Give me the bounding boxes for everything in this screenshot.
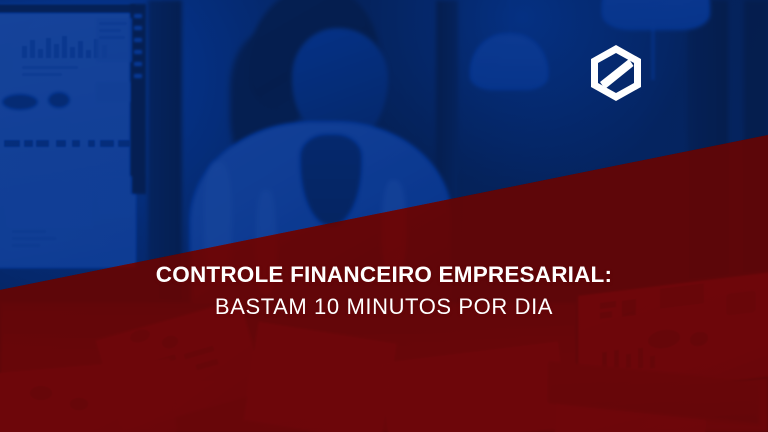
promo-banner: CONTROLE FINANCEIRO EMPRESARIAL: BASTAM …	[0, 0, 768, 432]
headline-block: CONTROLE FINANCEIRO EMPRESARIAL: BASTAM …	[0, 262, 768, 319]
page-subtitle: BASTAM 10 MINUTOS POR DIA	[0, 294, 768, 319]
hexagon-cube-logo-icon	[591, 45, 641, 101]
page-title: CONTROLE FINANCEIRO EMPRESARIAL:	[0, 262, 768, 288]
brand-logo[interactable]	[589, 44, 643, 102]
